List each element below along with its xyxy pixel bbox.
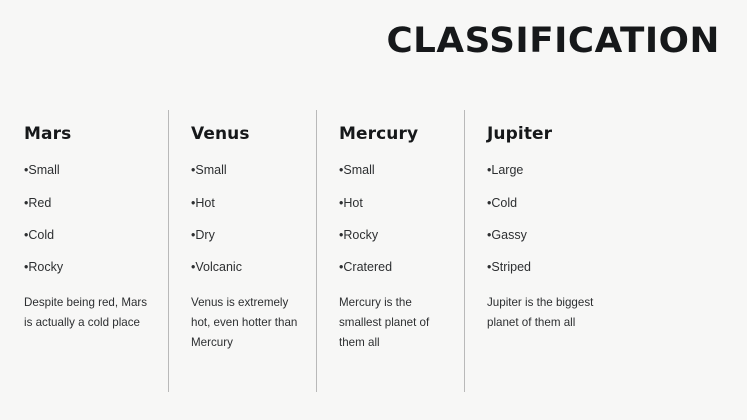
- column-jupiter: Jupiter •Large •Cold •Gassy •Striped Jup…: [464, 110, 644, 390]
- list-item-label: Red: [28, 196, 51, 210]
- list-item: •Gassy: [487, 229, 634, 243]
- page-title: CLASSIFICATION: [387, 22, 720, 61]
- bullet-list-venus: •Small •Hot •Dry •Volcanic: [191, 164, 306, 275]
- list-item-label: Gassy: [491, 228, 526, 242]
- list-item-label: Striped: [491, 260, 531, 274]
- slide-canvas: CLASSIFICATION Mars •Small •Red •Cold •R…: [0, 0, 747, 420]
- list-item-label: Rocky: [28, 260, 63, 274]
- column-note-mercury: Mercury is the smallest planet of them a…: [339, 293, 454, 353]
- bullet-list-mercury: •Small •Hot •Rocky •Cratered: [339, 164, 454, 275]
- classification-columns: Mars •Small •Red •Cold •Rocky Despite be…: [0, 110, 747, 390]
- list-item: •Hot: [339, 197, 454, 211]
- list-item: •Volcanic: [191, 261, 306, 275]
- column-header-mars: Mars: [24, 124, 158, 144]
- list-item: •Dry: [191, 229, 306, 243]
- list-item: •Small: [191, 164, 306, 178]
- column-header-venus: Venus: [191, 124, 306, 144]
- list-item-label: Small: [28, 163, 59, 177]
- list-item-label: Rocky: [343, 228, 378, 242]
- list-item-label: Cold: [491, 196, 517, 210]
- column-mercury: Mercury •Small •Hot •Rocky •Cratered Mer…: [316, 110, 464, 390]
- bullet-list-mars: •Small •Red •Cold •Rocky: [24, 164, 158, 275]
- list-item-label: Hot: [195, 196, 214, 210]
- list-item: •Cold: [24, 229, 158, 243]
- list-item-label: Small: [195, 163, 226, 177]
- bullet-list-jupiter: •Large •Cold •Gassy •Striped: [487, 164, 634, 275]
- list-item-label: Cold: [28, 228, 54, 242]
- list-item: •Small: [24, 164, 158, 178]
- column-venus: Venus •Small •Hot •Dry •Volcanic Venus i…: [168, 110, 316, 390]
- list-item: •Rocky: [24, 261, 158, 275]
- list-item-label: Dry: [195, 228, 214, 242]
- column-note-venus: Venus is extremely hot, even hotter than…: [191, 293, 306, 353]
- list-item-label: Volcanic: [195, 260, 242, 274]
- list-item-label: Small: [343, 163, 374, 177]
- list-item-label: Cratered: [343, 260, 392, 274]
- column-mars: Mars •Small •Red •Cold •Rocky Despite be…: [0, 110, 168, 390]
- column-header-mercury: Mercury: [339, 124, 454, 144]
- list-item: •Red: [24, 197, 158, 211]
- list-item: •Cold: [487, 197, 634, 211]
- column-header-jupiter: Jupiter: [487, 124, 634, 144]
- list-item: •Small: [339, 164, 454, 178]
- list-item: •Cratered: [339, 261, 454, 275]
- list-item: •Large: [487, 164, 634, 178]
- column-note-jupiter: Jupiter is the biggest planet of them al…: [487, 293, 617, 333]
- list-item: •Hot: [191, 197, 306, 211]
- list-item-label: Hot: [343, 196, 362, 210]
- list-item-label: Large: [491, 163, 523, 177]
- list-item: •Striped: [487, 261, 634, 275]
- column-note-mars: Despite being red, Mars is actually a co…: [24, 293, 149, 333]
- list-item: •Rocky: [339, 229, 454, 243]
